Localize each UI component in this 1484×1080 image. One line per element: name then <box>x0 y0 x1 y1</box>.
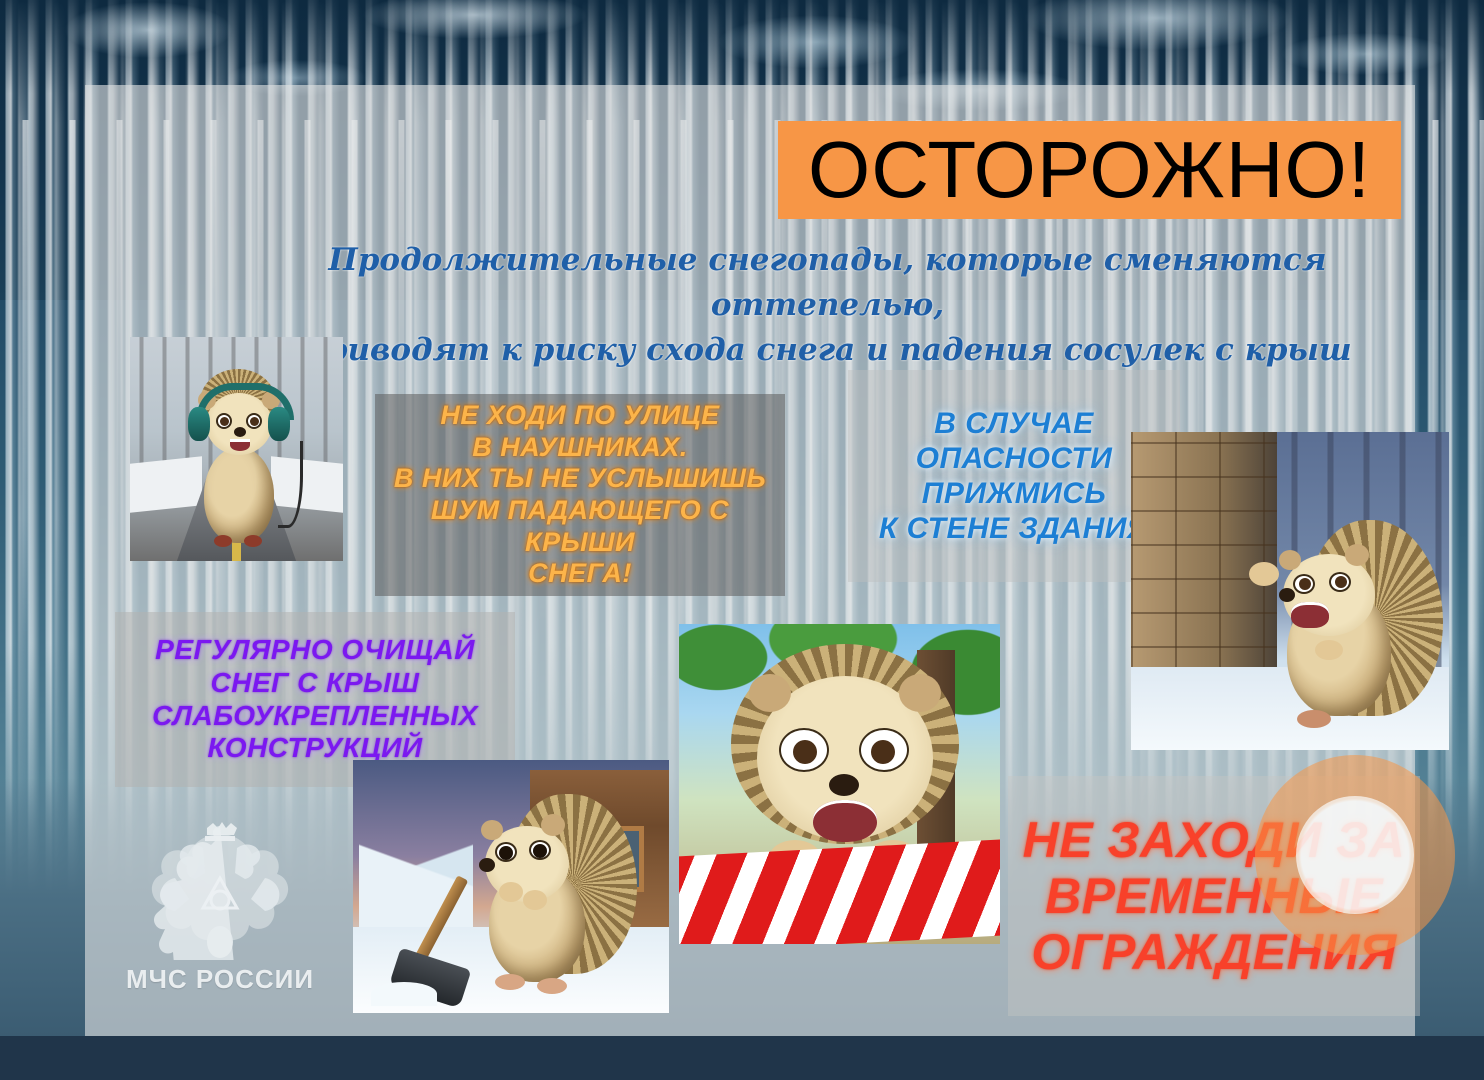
shoveled-snow-pile <box>371 982 437 1006</box>
hedgehog-foot-left <box>495 974 525 990</box>
frame-bottom-border <box>0 1036 1484 1080</box>
hedgehog-ear-right <box>541 814 565 836</box>
photo-hedgehog-shoveling <box>353 760 669 1013</box>
headphone-earcup-left-icon <box>188 407 210 441</box>
warning-fence-text: НЕ ЗАХОДИ ЗА ВРЕМЕННЫЕ ОГРАЖДЕНИЯ <box>1023 812 1406 980</box>
mchs-logo: МЧС РОССИИ <box>120 820 320 1005</box>
hedgehog-mouth <box>230 439 250 451</box>
hedgehog-pupil-right <box>871 740 895 764</box>
warning-headphones-text: НЕ ХОДИ ПО УЛИЦЕ В НАУШНИКАХ. В НИХ ТЫ Н… <box>375 400 785 589</box>
photo-hedgehog-headphones <box>130 337 343 561</box>
hedgehog-nose <box>234 427 246 437</box>
hedgehog-nose <box>1279 588 1295 602</box>
hedgehog-foot <box>1297 710 1331 728</box>
warning-fence-line-1: НЕ ЗАХОДИ ЗА <box>1023 812 1406 868</box>
hedgehog-foot-left <box>214 535 232 547</box>
hedgehog-foot-right <box>537 978 567 994</box>
warning-headphones-line-1: НЕ ХОДИ ПО УЛИЦЕ <box>375 400 785 432</box>
double-headed-eagle-icon <box>145 820 295 960</box>
mchs-logo-text: МЧС РОССИИ <box>126 964 314 995</box>
hedgehog-character <box>1257 510 1443 742</box>
warning-roof-line-1: РЕГУЛЯРНО ОЧИЩАЙ <box>152 634 478 667</box>
hedgehog-ear-left <box>749 674 791 712</box>
subtitle-line-1: Продолжительные снегопады, которые сменя… <box>328 242 1326 323</box>
warning-wall-line-4: К СТЕНЕ ЗДАНИЯ <box>879 511 1149 546</box>
warning-wall-line-1: В СЛУЧАЕ <box>879 406 1149 441</box>
poster-title: ОСТОРОЖНО! <box>808 130 1371 210</box>
hedgehog-paw-upper <box>499 882 523 902</box>
warning-wall-text: В СЛУЧАЕ ОПАСНОСТИ ПРИЖМИСЬ К СТЕНЕ ЗДАН… <box>879 406 1149 546</box>
hedgehog-body <box>204 447 274 543</box>
hedgehog-character <box>461 786 637 1000</box>
hedgehog-open-mouth <box>1291 602 1329 628</box>
warning-fence-line-2: ВРЕМЕННЫЕ <box>1023 868 1406 924</box>
safety-poster: ОСТОРОЖНО! Продолжительные снегопады, ко… <box>0 0 1484 1080</box>
warning-headphones-box: НЕ ХОДИ ПО УЛИЦЕ В НАУШНИКАХ. В НИХ ТЫ Н… <box>375 394 785 596</box>
hedgehog-ear-right <box>1345 544 1369 566</box>
hedgehog-ear-left <box>1279 550 1301 570</box>
hedgehog-paw-lower <box>523 890 547 910</box>
hedgehog-ear-right <box>899 674 941 712</box>
warning-fence-line-3: ОГРАЖДЕНИЯ <box>1023 924 1406 980</box>
hedgehog-character <box>182 369 294 549</box>
fir-trees <box>359 790 473 947</box>
headphone-earcup-right-icon <box>268 407 290 441</box>
warning-roof-text: РЕГУЛЯРНО ОЧИЩАЙ СНЕГ С КРЫШ СЛАБОУКРЕПЛ… <box>152 634 478 765</box>
hedgehog-nose <box>479 858 495 872</box>
warning-headphones-line-3: В НИХ ТЫ НЕ УСЛЫШИШЬ <box>375 463 785 495</box>
warning-fence-box: НЕ ЗАХОДИ ЗА ВРЕМЕННЫЕ ОГРАЖДЕНИЯ <box>1008 776 1420 1016</box>
hedgehog-pupil-right <box>533 844 547 858</box>
hedgehog-pupil-left <box>499 846 513 860</box>
poster-subtitle: Продолжительные снегопады, которые сменя… <box>240 238 1415 373</box>
barrier-tape <box>679 839 1000 944</box>
warning-headphones-line-2: В НАУШНИКАХ. <box>375 432 785 464</box>
warning-roof-line-3: СЛАБОУКРЕПЛЕННЫХ <box>152 700 478 733</box>
warning-roof-line-2: СНЕГ С КРЫШ <box>152 667 478 700</box>
warning-wall-line-2: ОПАСНОСТИ <box>879 441 1149 476</box>
hedgehog-paw-front <box>1315 640 1343 660</box>
warning-wall-line-3: ПРИЖМИСЬ <box>879 476 1149 511</box>
warning-headphones-line-5: СНЕГА! <box>375 558 785 590</box>
photo-hedgehog-behind-tape <box>679 624 1000 944</box>
hedgehog-pupil-left <box>1299 578 1311 590</box>
hedgehog-nose <box>829 774 859 796</box>
hedgehog-angry-mouth <box>813 800 877 842</box>
hedgehog-foot-right <box>244 535 262 547</box>
warning-headphones-line-4: ШУМ ПАДАЮЩЕГО С КРЫШИ <box>375 495 785 558</box>
subtitle-line-2: приводят к риску схода снега и падения с… <box>240 328 1415 373</box>
title-banner: ОСТОРОЖНО! <box>778 121 1401 219</box>
hedgehog-ear-left <box>481 820 503 840</box>
photo-hedgehog-at-wall <box>1131 432 1449 750</box>
hedgehog-paw-on-wall <box>1249 562 1279 586</box>
hedgehog-pupil-right <box>1335 576 1347 588</box>
hedgehog-pupil-left <box>793 740 817 764</box>
